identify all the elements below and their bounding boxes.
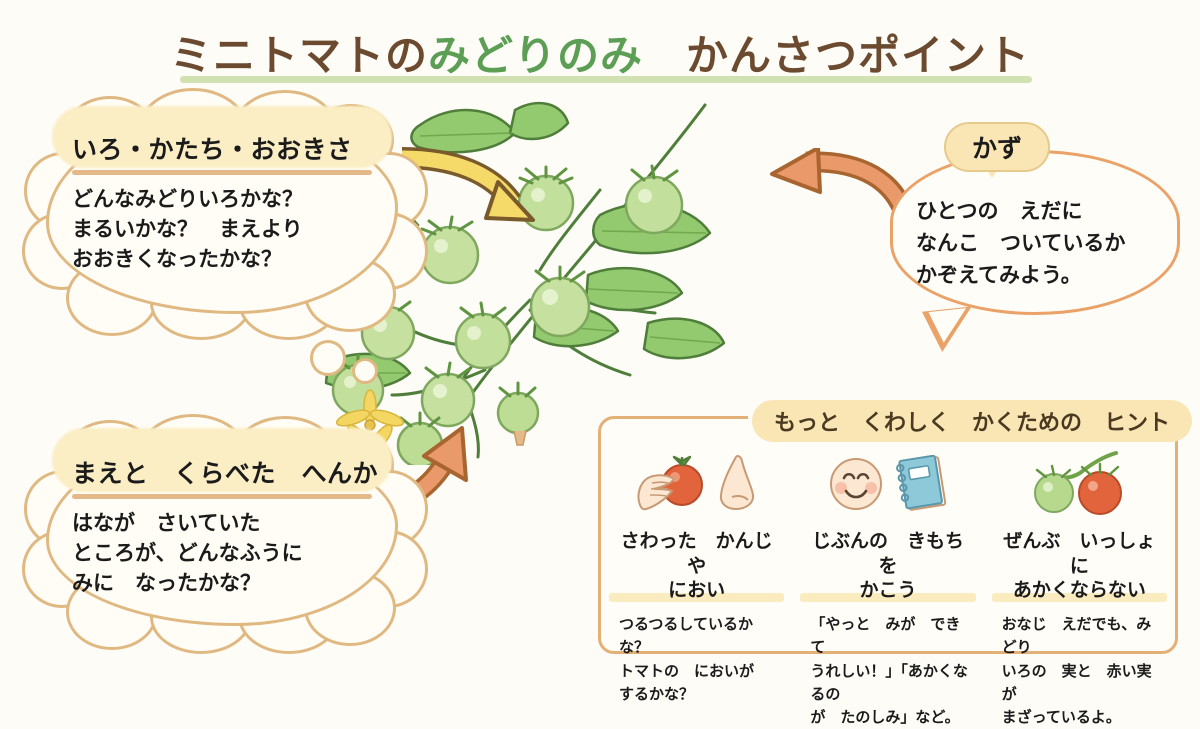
title-part-3: かんさつポイント [643,31,1030,80]
hint-column-not-all-red: ぜんぶ いっしょに あかくならない おなじ えだでも、みどり いろの 実と 赤い… [984,447,1175,729]
title-part-1: ミニトマトの [170,31,428,80]
hint-panel-title: もっと くわしく かくための ヒント [752,400,1192,442]
page-title: ミニトマトのみどりのみ かんさつポイント [0,22,1200,83]
hint-body: おなじ えだでも、みどり いろの 実と 赤い実が まざっているよ。 [996,613,1163,729]
bubble-heading: いろ・かたち・おおきさ [72,130,372,166]
hint-heading: じぶんの きもちを かこう [804,529,971,603]
bubble-line-1: ひとつの えだに [916,196,1083,226]
hint-body-line-1: 「やっと みが できて [810,613,971,660]
bubble-heading-underline [72,494,372,499]
bubble-line-3: おおきくなったかな？ [72,245,372,275]
hint-body-line-1: つるつるしているかな？ [619,613,780,660]
hint-heading-line2: あかくならない [1013,579,1146,601]
hint-heading-line1: ぜんぶ いっしょに [1003,530,1155,577]
notebook-icon [893,455,949,517]
hand-touching-tomato-icon [634,455,708,517]
hint-heading: ぜんぶ いっしょに あかくならない [996,529,1163,603]
bubble-line-2: なんこ ついているか [916,228,1125,258]
bubble-color-shape-size: いろ・かたち・おおきさ どんなみどりいろかな？ まるいかな？ まえより おおきく… [46,116,398,314]
bubble-line-1: どんなみどりいろかな？ [72,185,372,215]
hint-body-line-2: いろの 実と 赤い実が [1002,660,1163,707]
bubble-line-2: ところが、どんなふうに [72,539,372,569]
hint-heading-line2: かこう [859,579,916,601]
bubble-line-3: かぞえてみよう。 [916,260,1082,290]
hint-body: 「やっと みが できて うれしい！」「あかくなるの が たのしみ」など。 [804,613,971,729]
hint-heading: さわった かんじや におい [613,529,780,603]
hint-body-line-1: おなじ えだでも、みどり [1002,613,1163,660]
nose-icon [716,455,760,517]
thought-dot-small [352,358,378,384]
hint-heading-line2: におい [668,579,725,601]
hint-column-touch-smell: さわった かんじや におい つるつるしているかな？ トマトの においが するかな… [601,447,792,729]
hint-panel: さわった かんじや におい つるつるしているかな？ トマトの においが するかな… [598,416,1178,654]
bubble-heading: まえと くらべた へんか [72,454,372,490]
hint-body-line-3: が たのしみ」など。 [810,706,971,729]
title-part-2: みどりのみ [428,31,643,80]
bubble-count: かず ひとつの えだに なんこ ついているか かぞえてみよう。 [890,150,1180,315]
bubble-line-2: まるいかな？ まえより [72,215,372,245]
bubble-count-tag: かず [944,122,1050,172]
green-and-red-tomato-icon [1024,449,1134,523]
thought-dot-large [310,340,346,376]
hint-body-line-3: するかな？ [619,683,780,706]
bubble-line-1: はなが さいていた [72,509,372,539]
bubble-change-from-before: まえと くらべた へんか はなが さいていた ところが、どんなふうに みに なっ… [46,440,398,626]
hint-column-feelings: じぶんの きもちを かこう 「やっと みが できて うれしい！」「あかくなるの … [792,447,983,729]
title-underline-rule [180,76,1032,83]
hint-body-line-2: トマトの においが [619,660,780,683]
smiley-face-icon [827,455,885,517]
hint-heading-line1: さわった かんじや [621,530,773,577]
bubble-heading-underline [72,170,372,175]
hint-body-line-2: うれしい！」「あかくなるの [810,660,971,707]
hint-heading-line1: じぶんの きもちを [812,530,964,577]
hint-body: つるつるしているかな？ トマトの においが するかな？ [613,613,780,706]
infographic-canvas: ミニトマトのみどりのみ かんさつポイント [0,0,1200,665]
bubble-line-3: みに なったかな？ [72,569,372,599]
hint-body-line-3: まざっているよ。 [1002,706,1163,729]
orange-arrow-to-plant-right [748,148,913,247]
